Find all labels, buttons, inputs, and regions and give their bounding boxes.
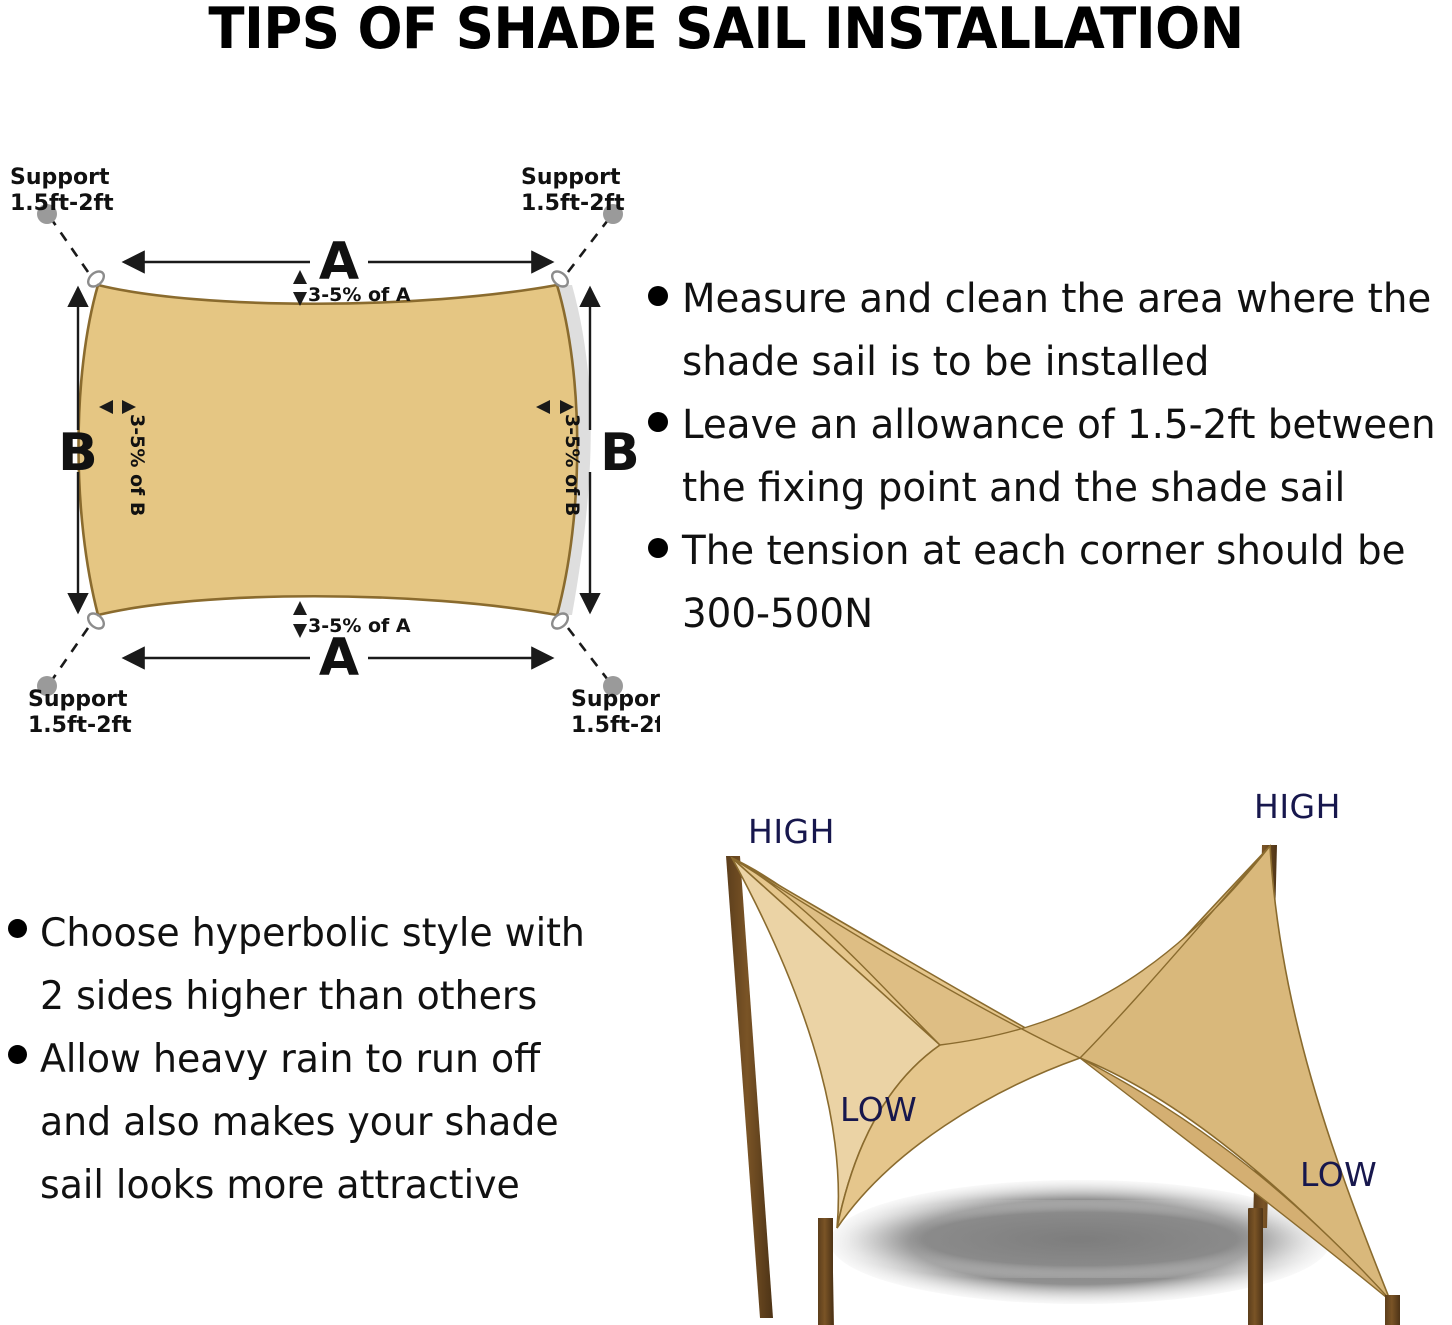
list-item: Leave an allowance of 1.5-2ft between th… xyxy=(648,394,1452,520)
hyperbolic-sail-illustration xyxy=(640,790,1452,1325)
bullet-dot-icon xyxy=(8,1045,27,1064)
support-line-bottom-left xyxy=(52,628,88,680)
support-line-bottom-right xyxy=(568,628,608,680)
support-label-line2: 1.5ft-2ft xyxy=(571,713,660,738)
rectangular-sail-diagram: Support 1.5ft-2ft Support 1.5ft-2ft Supp… xyxy=(0,160,660,740)
pole-low-left-front xyxy=(818,1218,833,1325)
style-tips-list: Choose hyperbolic style with 2 sides hig… xyxy=(8,902,638,1217)
support-label-line1: Support xyxy=(521,165,621,190)
bullet-dot-icon xyxy=(648,538,668,558)
dimension-label-a-bottom: A xyxy=(319,628,359,688)
page-title: TIPS OF SHADE SAIL INSTALLATION xyxy=(51,0,1401,62)
sail-shape xyxy=(79,285,578,615)
support-label-line1: Support xyxy=(571,687,660,712)
tip-line: Measure and clean the area where the xyxy=(682,268,1431,331)
support-label-line2: 1.5ft-2ft xyxy=(28,713,132,738)
style-tip-line: Choose hyperbolic style with xyxy=(40,902,585,965)
support-label-bottom-right: Support 1.5ft-2ft xyxy=(571,687,660,738)
curve-label-left: 3-5% of B xyxy=(126,414,148,516)
bullet-dot-icon xyxy=(8,919,27,938)
style-tip-line: and also makes your shade xyxy=(40,1091,559,1154)
support-line-top-right xyxy=(568,220,608,272)
tip-line: shade sail is to be installed xyxy=(682,331,1431,394)
pole-low-right xyxy=(1385,1295,1400,1325)
support-label-line2: 1.5ft-2ft xyxy=(10,191,114,216)
infographic-page: TIPS OF SHADE SAIL INSTALLATION xyxy=(0,0,1452,1325)
support-label-line1: Support xyxy=(10,165,110,190)
tip-text-block: Leave an allowance of 1.5-2ft between th… xyxy=(682,394,1452,520)
pole-mid-right xyxy=(1248,1208,1263,1325)
style-tip-line: 2 sides higher than others xyxy=(40,965,585,1028)
tip-line: Leave an allowance of 1.5-2ft between xyxy=(682,394,1436,457)
dimension-label-a-top: A xyxy=(319,232,359,292)
installation-tips-list: Measure and clean the area where the sha… xyxy=(648,268,1452,646)
support-label-top-right: Support 1.5ft-2ft xyxy=(521,165,625,216)
dimension-label-b-right: B xyxy=(600,423,640,483)
tip-text-block: The tension at each corner should be 300… xyxy=(682,520,1428,646)
bullet-dot-icon xyxy=(648,286,668,306)
list-item: The tension at each corner should be 300… xyxy=(648,520,1452,646)
support-label-bottom-left: Support 1.5ft-2ft xyxy=(28,687,132,738)
style-tip-line: Allow heavy rain to run off xyxy=(40,1028,559,1091)
curve-label-top: 3-5% of A xyxy=(308,284,411,306)
support-label-line2: 1.5ft-2ft xyxy=(521,191,625,216)
list-item: Measure and clean the area where the sha… xyxy=(648,268,1452,394)
tip-line: the fixing point and the shade sail xyxy=(682,457,1436,520)
dimension-label-b-left: B xyxy=(58,423,98,483)
tip-text-block: Measure and clean the area where the sha… xyxy=(682,268,1452,394)
curve-label-bottom: 3-5% of A xyxy=(308,615,411,637)
style-tip-text-block: Allow heavy rain to run off and also mak… xyxy=(40,1028,575,1217)
list-item: Allow heavy rain to run off and also mak… xyxy=(8,1028,638,1217)
support-line-top-left xyxy=(52,220,88,272)
tip-line: 300-500N xyxy=(682,583,1406,646)
curve-label-right: 3-5% of B xyxy=(561,414,583,516)
bullet-dot-icon xyxy=(648,412,668,432)
list-item: Choose hyperbolic style with 2 sides hig… xyxy=(8,902,638,1028)
style-tip-text-block: Choose hyperbolic style with 2 sides hig… xyxy=(40,902,602,1028)
tip-line: The tension at each corner should be xyxy=(682,520,1406,583)
style-tip-line: sail looks more attractive xyxy=(40,1154,559,1217)
support-label-top-left: Support 1.5ft-2ft xyxy=(10,165,114,216)
support-label-line1: Support xyxy=(28,687,128,712)
